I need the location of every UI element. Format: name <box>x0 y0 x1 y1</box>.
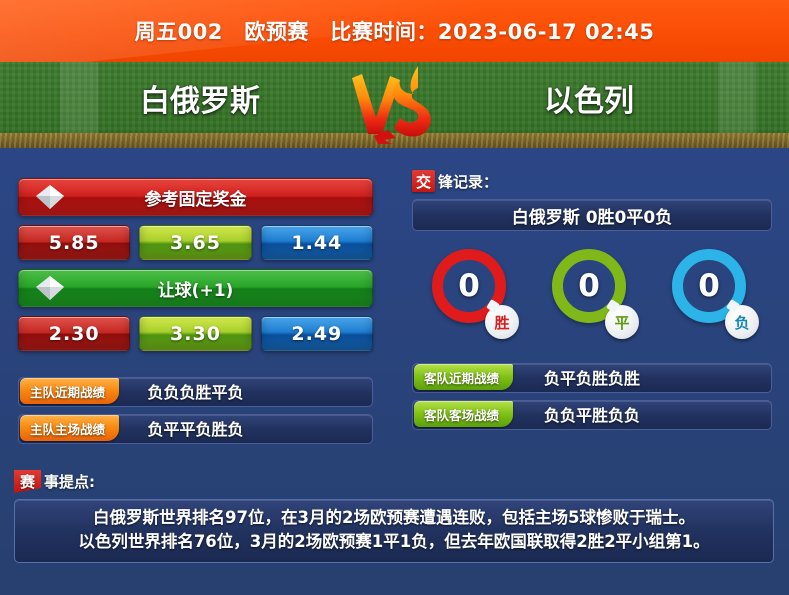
match-preview-page: 周五002 欧预赛 比赛时间：2023-06-17 02:45 白俄罗斯 以色列 <box>0 0 789 595</box>
diamond-icon <box>33 271 67 305</box>
h2h-summary: 白俄罗斯 0胜0平0负 <box>412 199 772 231</box>
record-row-home-host[interactable]: 负平平负胜负 主队主场战绩 <box>18 414 373 442</box>
h2h-heading-text: 锋记录： <box>438 171 498 192</box>
header-bar: 周五002 欧预赛 比赛时间：2023-06-17 02:45 <box>0 0 789 62</box>
record-row-away-guest[interactable]: 负负平胜负负 客队客场战绩 <box>412 400 772 428</box>
h2h-column: 交 锋记录： 白俄罗斯 0胜0平0负 0 胜 0 平 0 负 <box>412 170 772 437</box>
home-records-group: 负负负胜平负 主队近期战绩 负平平负胜负 主队主场战绩 <box>18 377 373 442</box>
handicap-odds-row: 2.30 3.30 2.49 <box>18 316 373 351</box>
record-tag: 主队近期战绩 <box>20 378 119 404</box>
h2h-ring-win: 0 胜 <box>427 247 517 337</box>
fixed-odds-title: 参考固定奖金 <box>145 185 247 210</box>
fixed-odds-banner: 参考固定奖金 <box>18 178 373 216</box>
fixed-odd-home[interactable]: 5.85 <box>18 225 130 260</box>
fixed-odd-draw[interactable]: 3.65 <box>139 225 251 260</box>
odds-column: 参考固定奖金 5.85 3.65 1.44 让球(+1) 2.30 3.30 2… <box>18 178 373 451</box>
tips-heading-text: 事提点: <box>44 471 95 492</box>
ring-label-badge: 平 <box>605 305 639 339</box>
h2h-ring-loss: 0 负 <box>667 247 757 337</box>
h2h-rings: 0 胜 0 平 0 负 <box>412 247 772 339</box>
record-tag: 客队近期战绩 <box>414 364 513 390</box>
away-team-name: 以色列 <box>449 62 729 134</box>
tips-line: 白俄罗斯世界排名97位，在3月的2场欧预赛遭遇连败，包括主场5球惨败于瑞士。 <box>25 506 763 530</box>
tips-box: 白俄罗斯世界排名97位，在3月的2场欧预赛遭遇连败，包括主场5球惨败于瑞士。 以… <box>14 499 774 563</box>
handicap-banner: 让球(+1) <box>18 269 373 307</box>
tips-line: 以色列世界排名76位，3月的2场欧预赛1平1负，但去年欧国联取得2胜2平小组第1… <box>25 530 763 554</box>
h2h-ring-draw: 0 平 <box>547 247 637 337</box>
handicap-title: 让球(+1) <box>158 276 234 301</box>
handicap-odd-home[interactable]: 2.30 <box>18 316 130 351</box>
ring-label-badge: 胜 <box>485 305 519 339</box>
h2h-heading: 交 锋记录： <box>412 170 772 192</box>
header-title: 周五002 欧预赛 比赛时间：2023-06-17 02:45 <box>0 0 789 62</box>
record-tag: 主队主场战绩 <box>20 415 119 441</box>
tips-heading: 赛 事提点: <box>14 470 774 493</box>
handicap-odd-draw[interactable]: 3.30 <box>139 316 251 351</box>
vs-icon <box>344 60 444 144</box>
ring-label-badge: 负 <box>725 305 759 339</box>
fixed-odd-away[interactable]: 1.44 <box>261 225 373 260</box>
home-team-name: 白俄罗斯 <box>60 62 340 134</box>
tips-section: 赛 事提点: 白俄罗斯世界排名97位，在3月的2场欧预赛遭遇连败，包括主场5球惨… <box>14 470 774 563</box>
h2h-badge-icon: 交 <box>412 170 435 192</box>
handicap-odd-away[interactable]: 2.49 <box>261 316 373 351</box>
away-records-group: 负平负胜负胜 客队近期战绩 负负平胜负负 客队客场战绩 <box>412 363 772 428</box>
record-row-away-recent[interactable]: 负平负胜负胜 客队近期战绩 <box>412 363 772 391</box>
diamond-icon <box>33 180 67 214</box>
tips-badge-icon: 赛 <box>14 470 41 493</box>
fixed-odds-row: 5.85 3.65 1.44 <box>18 225 373 260</box>
record-row-home-recent[interactable]: 负负负胜平负 主队近期战绩 <box>18 377 373 405</box>
record-tag: 客队客场战绩 <box>414 401 513 427</box>
